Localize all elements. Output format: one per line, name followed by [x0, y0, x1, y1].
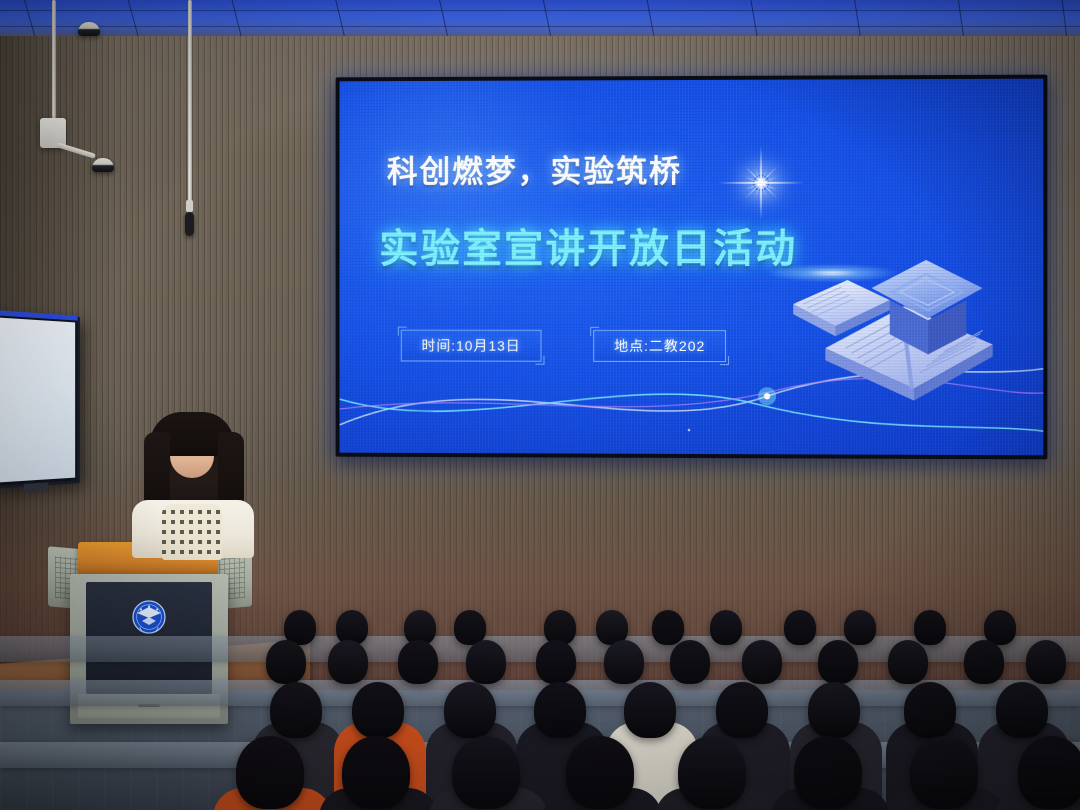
audience-member-head	[604, 640, 645, 684]
audience-member-head	[710, 610, 742, 645]
audience-area	[0, 596, 1080, 810]
camera-mount-pole	[52, 0, 56, 128]
audience-member-head	[742, 640, 783, 684]
audience-member-head	[964, 640, 1005, 684]
audience-member-head	[652, 610, 684, 645]
sparkle-ray	[744, 166, 777, 199]
ceiling-grid-line	[0, 26, 1080, 27]
presenter-at-podium	[130, 408, 256, 556]
led-wall-screen[interactable]: 科创燃梦，实验筑桥 实验室宣讲开放日活动 时间:10月13日 地点:二教202	[336, 75, 1048, 460]
audience-member-head	[566, 736, 634, 809]
wall-ptz-camera-dome-icon	[92, 158, 114, 172]
slide-subtitle: 实验室宣讲开放日活动	[379, 216, 797, 274]
audience-member-head	[398, 640, 439, 684]
audience-member-head	[328, 640, 369, 684]
audience-member-head	[266, 640, 307, 684]
audience-member-head	[984, 610, 1016, 645]
vest-pattern-row	[162, 520, 222, 524]
presenter-knit-vest	[162, 504, 222, 560]
audience-member-head	[624, 682, 676, 738]
audience-member-head	[236, 736, 304, 809]
sparkle-ray	[755, 169, 767, 197]
sparkle-ray	[760, 146, 762, 220]
audience-member-head	[270, 682, 322, 738]
audience-member-head	[910, 736, 978, 809]
audience-member-head	[844, 610, 876, 645]
sparkle-ray	[745, 176, 777, 190]
audience-member-head	[342, 736, 410, 809]
vest-pattern-row	[162, 510, 222, 514]
audience-member-head	[466, 640, 507, 684]
slide-surface: 科创燃梦，实验筑桥 实验室宣讲开放日活动 时间:10月13日 地点:二教202	[340, 79, 1044, 456]
audience-member-head	[818, 640, 859, 684]
slide-info-badges: 时间:10月13日 地点:二教202	[401, 330, 727, 362]
sparkle-ray	[745, 176, 777, 190]
audience-member-head	[678, 736, 746, 809]
sparkle-ray	[744, 166, 777, 199]
hanging-microphone-icon	[185, 212, 194, 236]
audience-member-head	[716, 682, 768, 738]
audience-member-head	[536, 640, 577, 684]
audience-member-head	[996, 682, 1048, 738]
side-wall-monitor[interactable]	[0, 311, 80, 489]
audience-member-head	[444, 682, 496, 738]
lecture-hall-photo: 科创燃梦，实验筑桥 实验室宣讲开放日活动 时间:10月13日 地点:二教202	[0, 0, 1080, 810]
microphone-pole-right	[188, 0, 192, 204]
audience-member-head	[888, 640, 929, 684]
slide-headline: 科创燃梦，实验筑桥	[387, 146, 682, 191]
vest-pattern-row	[162, 530, 222, 534]
audience-member-head	[452, 736, 520, 809]
audience-member-head	[1018, 736, 1080, 809]
location-badge: 地点:二教202	[593, 330, 726, 362]
monitor-base	[23, 482, 48, 493]
audience-member-head	[784, 610, 816, 645]
audience-member-head	[1026, 640, 1067, 684]
ceiling-grid-line	[0, 10, 1080, 11]
audience-member-head	[534, 682, 586, 738]
sparkle-ray	[755, 169, 767, 197]
open-book-and-graduation-cap-graphic	[785, 208, 1017, 409]
microphone-clip	[186, 200, 193, 212]
vest-pattern-row	[162, 550, 222, 554]
audience-member-head	[808, 682, 860, 738]
audience-member-head	[904, 682, 956, 738]
sparkle-ray	[718, 182, 804, 185]
audience-member-head	[352, 682, 404, 738]
ceiling-dome-camera-icon	[78, 22, 100, 36]
slide-glow	[340, 79, 608, 320]
monitor-screen	[0, 317, 75, 482]
time-badge: 时间:10月13日	[401, 330, 542, 362]
audience-member-head	[914, 610, 946, 645]
audience-member-head	[794, 736, 862, 809]
vest-pattern-row	[162, 540, 222, 544]
audience-member-head	[670, 640, 711, 684]
